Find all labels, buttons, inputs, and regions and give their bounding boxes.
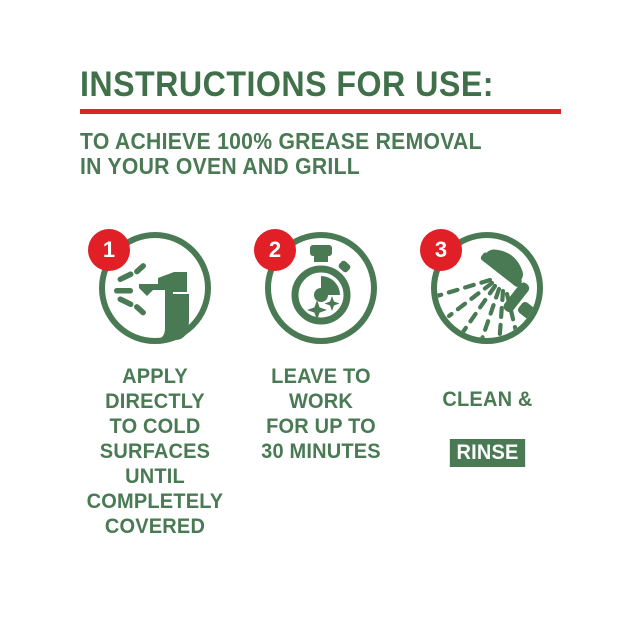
header-block: INSTRUCTIONS FOR USE: TO ACHIEVE 100% GR… [80, 66, 562, 179]
step-3-badge: 3 [420, 229, 462, 271]
title-divider [80, 109, 561, 114]
step-3-icon-wrap: 3 [427, 228, 547, 348]
step-item-3: 3 CLEAN & RINSE [404, 228, 570, 467]
instructions-panel: INSTRUCTIONS FOR USE: TO ACHIEVE 100% GR… [0, 0, 640, 640]
page-subtitle: TO ACHIEVE 100% GREASE REMOVAL IN YOUR O… [80, 129, 523, 179]
step-3-caption: CLEAN & RINSE [442, 362, 532, 467]
step-2-caption: LEAVE TO WORK FOR UP TO 30 MINUTES [244, 364, 398, 464]
step-1-icon-wrap: 1 [95, 228, 215, 348]
step-1-badge: 1 [88, 229, 130, 271]
step-2-icon-wrap: 2 [261, 228, 381, 348]
step-item-1: 1 APPLY DIRECTLY TO COLD SURFACES UNTIL … [72, 228, 238, 539]
step-3-caption-line-1: CLEAN & [442, 387, 532, 411]
step-3-caption-highlight: RINSE [449, 439, 524, 467]
page-title: INSTRUCTIONS FOR USE: [80, 66, 523, 104]
step-1-caption: APPLY DIRECTLY TO COLD SURFACES UNTIL CO… [78, 364, 232, 539]
steps-row: 1 APPLY DIRECTLY TO COLD SURFACES UNTIL … [72, 228, 572, 539]
step-2-badge: 2 [254, 229, 296, 271]
step-item-2: 2 LEAVE TO WORK FOR UP TO 30 MINUTES [238, 228, 404, 464]
